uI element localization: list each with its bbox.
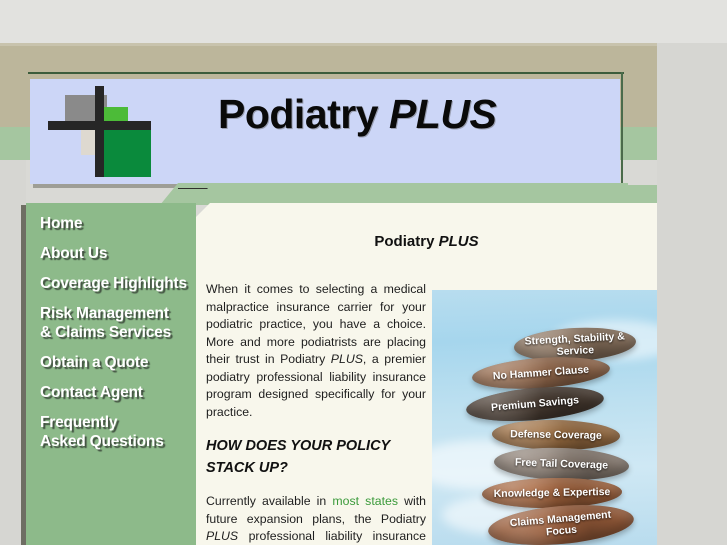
sidebar: Home About Us Coverage Highlights Risk M…	[26, 203, 196, 545]
sidebar-item-about-us[interactable]: About Us	[26, 244, 196, 263]
content-top-green-accent	[196, 185, 657, 205]
stone-label: Knowledge & Expertise	[488, 486, 617, 500]
background-right-gutter	[657, 43, 727, 545]
section-subheading: HOW DOES YOUR POLICY STACK UP?	[206, 435, 426, 479]
background-band-khaki-highlight	[0, 43, 727, 46]
logo-horizontal-bar	[48, 121, 151, 130]
stacked-stones-benefits-image: Strength, Stability & Service No Hammer …	[432, 290, 658, 545]
sidebar-item-label-line2: & Claims Services	[40, 323, 192, 342]
intro-paragraph-accent: PLUS	[331, 352, 363, 366]
availability-accent: PLUS	[206, 529, 238, 543]
page-title-main: Podiatry	[374, 233, 434, 250]
sidebar-item-coverage-highlights[interactable]: Coverage Highlights	[26, 274, 196, 293]
sidebar-item-label-line1: Frequently	[40, 413, 192, 432]
stone-premium-savings: Premium Savings	[465, 382, 605, 426]
availability-part3: professional liability insurance program…	[206, 529, 426, 545]
stone-label: No Hammer Clause	[487, 363, 596, 383]
page-title: Podiatry PLUS	[196, 233, 657, 250]
sidebar-item-frequently-asked-questions[interactable]: Frequently Asked Questions	[26, 413, 196, 451]
sidebar-item-label-line1: Risk Management	[40, 304, 192, 323]
site-title-main: Podiatry	[218, 91, 378, 137]
logo-vertical-bar	[95, 86, 104, 177]
podiatry-plus-cross-logo[interactable]	[48, 82, 158, 180]
sidebar-item-label-line2: Asked Questions	[40, 432, 192, 451]
availability-part1: Currently available in	[206, 494, 332, 508]
sidebar-item-risk-management-claims-services[interactable]: Risk Management & Claims Services	[26, 304, 196, 342]
content-text-column: When it comes to selecting a medical mal…	[206, 281, 426, 545]
site-title-accent: PLUS	[389, 91, 496, 137]
intro-paragraph: When it comes to selecting a medical mal…	[206, 281, 426, 421]
site-title: Podiatry PLUS	[218, 91, 588, 143]
sidebar-item-contact-agent[interactable]: Contact Agent	[26, 383, 196, 402]
availability-paragraph: Currently available in most states with …	[206, 493, 426, 545]
sidebar-item-obtain-a-quote[interactable]: Obtain a Quote	[26, 353, 196, 372]
stone-label: Free Tail Coverage	[509, 456, 615, 472]
stone-label: Defense Coverage	[504, 428, 608, 442]
page-title-accent: PLUS	[439, 233, 479, 250]
main-content-panel: Podiatry PLUS When it comes to selecting…	[196, 203, 657, 545]
most-states-link[interactable]: most states	[332, 494, 398, 508]
stone-label: Premium Savings	[485, 394, 586, 415]
page-root: Podiatry PLUS Premier Professional Liabi…	[0, 0, 727, 545]
background-band-top	[0, 0, 727, 43]
banner-frame-top-line	[28, 72, 624, 74]
logo-dark-green-square	[102, 127, 151, 177]
primary-navigation: Home About Us Coverage Highlights Risk M…	[26, 203, 196, 462]
sidebar-item-home[interactable]: Home	[26, 214, 196, 233]
